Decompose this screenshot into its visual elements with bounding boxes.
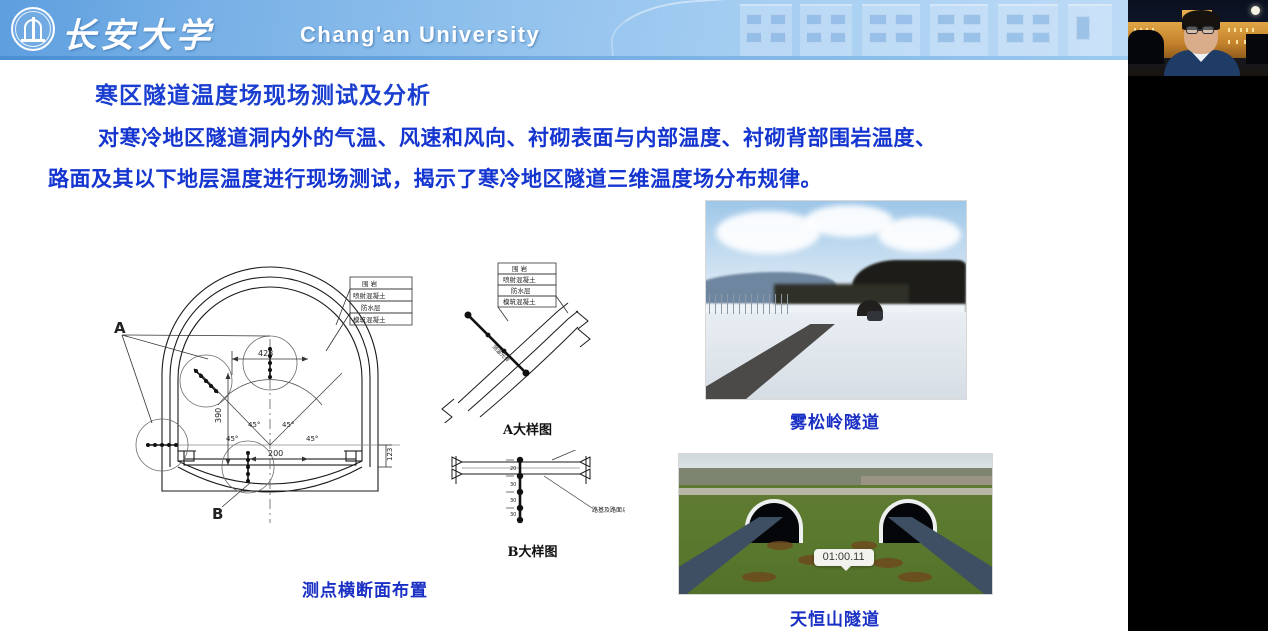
caption-cross-section: 测点横断面布置	[230, 576, 500, 601]
building-watermark	[930, 4, 988, 56]
legend-shotcrete: 喷射混凝土	[353, 291, 386, 300]
dim-label: 30	[510, 482, 516, 488]
legend-waterproof: 防水层	[511, 286, 531, 295]
video-timestamp-tooltip: 01:00.11	[814, 549, 874, 566]
dim-label: 30	[510, 512, 516, 518]
slide-paragraph-line-2: 路面及其以下地层温度进行现场测试，揭示了寒冷地区隧道三维温度场分布规律。	[48, 163, 1098, 193]
angle-label: 45°	[226, 435, 238, 443]
university-name-english: Chang'an University	[300, 22, 540, 48]
building-watermark	[862, 4, 920, 56]
tunnel-cross-section-drawing: A B 428 390 200 123 45° 45° 45° 45° 围 岩 …	[100, 255, 440, 570]
detail-b-caption: B大样图	[440, 541, 625, 560]
angle-label: 45°	[306, 435, 318, 443]
dim-390: 390	[214, 408, 223, 423]
callout-label-b: B	[212, 505, 223, 523]
university-logo-icon	[8, 6, 58, 54]
photo-tianhengshan-tunnel: 01:00.11	[678, 453, 993, 595]
dim-200: 200	[268, 449, 283, 458]
detail-a-caption: A大样图	[440, 419, 615, 438]
webcam-side-panel	[1128, 0, 1268, 631]
legend-concrete: 模筑混凝土	[503, 297, 536, 306]
legend-rock: 围 岩	[512, 264, 528, 273]
building-watermark	[998, 4, 1058, 56]
cross-section-svg: A B 428 390 200 123 45° 45° 45° 45° 围 岩 …	[100, 255, 440, 570]
dim-123: 123	[386, 448, 394, 461]
dim-428: 428	[258, 349, 273, 358]
presenter-webcam-video[interactable]	[1128, 0, 1268, 76]
glasses-icon	[1186, 26, 1198, 34]
slide-title: 寒区隧道温度场现场测试及分析	[95, 76, 431, 110]
note-subgrade: 路基及路面以下	[592, 506, 625, 514]
moon-icon	[1251, 6, 1260, 15]
detail-drawing-b: 20 30 30 30 路基及路面以下 B大样图	[440, 450, 625, 560]
screen: 长安大学 Chang'an University 寒区隧道温度场现场测试及分析 …	[0, 0, 1268, 631]
legend-shotcrete: 喷射混凝土	[503, 275, 536, 284]
dim-label: 30	[510, 498, 516, 504]
legend-concrete: 模筑混凝土	[353, 315, 386, 324]
detail-b-svg: 20 30 30 30 路基及路面以下	[440, 450, 625, 542]
banner-divider	[0, 56, 1128, 60]
glasses-icon	[1202, 26, 1214, 34]
building-watermark	[800, 4, 852, 56]
building-watermark	[740, 4, 792, 56]
slide-paragraph-line-1: 对寒冷地区隧道洞内外的气温、风速和风向、衬砌表面与内部温度、衬砌背部围岩温度、	[98, 122, 1128, 152]
angle-label: 45°	[282, 421, 294, 429]
caption-photo-tianhengshan: 天恒山隧道	[735, 605, 935, 630]
photo-wusongling-tunnel	[705, 200, 967, 400]
sensor-note: 测温元件	[491, 343, 513, 365]
bridge-watermark	[608, 0, 731, 58]
callout-label-a: A	[114, 319, 126, 337]
detail-drawing-a: 围 岩 喷射混凝土 防水层 模筑混凝土 测温元件 A大样图	[440, 255, 615, 440]
slide-header-banner: 长安大学 Chang'an University	[0, 0, 1128, 60]
dim-label: 20	[510, 466, 516, 472]
presentation-slide: 长安大学 Chang'an University 寒区隧道温度场现场测试及分析 …	[0, 0, 1128, 631]
building-watermark	[1068, 4, 1112, 56]
detail-a-svg: 围 岩 喷射混凝土 防水层 模筑混凝土 测温元件	[440, 255, 615, 423]
legend-waterproof: 防水层	[361, 303, 381, 312]
university-name-chinese: 长安大学	[62, 8, 214, 57]
legend-rock: 围 岩	[362, 279, 378, 288]
caption-photo-wusongling: 雾松岭隧道	[735, 408, 935, 433]
angle-label: 45°	[248, 421, 260, 429]
panel-empty-area	[1128, 76, 1268, 631]
